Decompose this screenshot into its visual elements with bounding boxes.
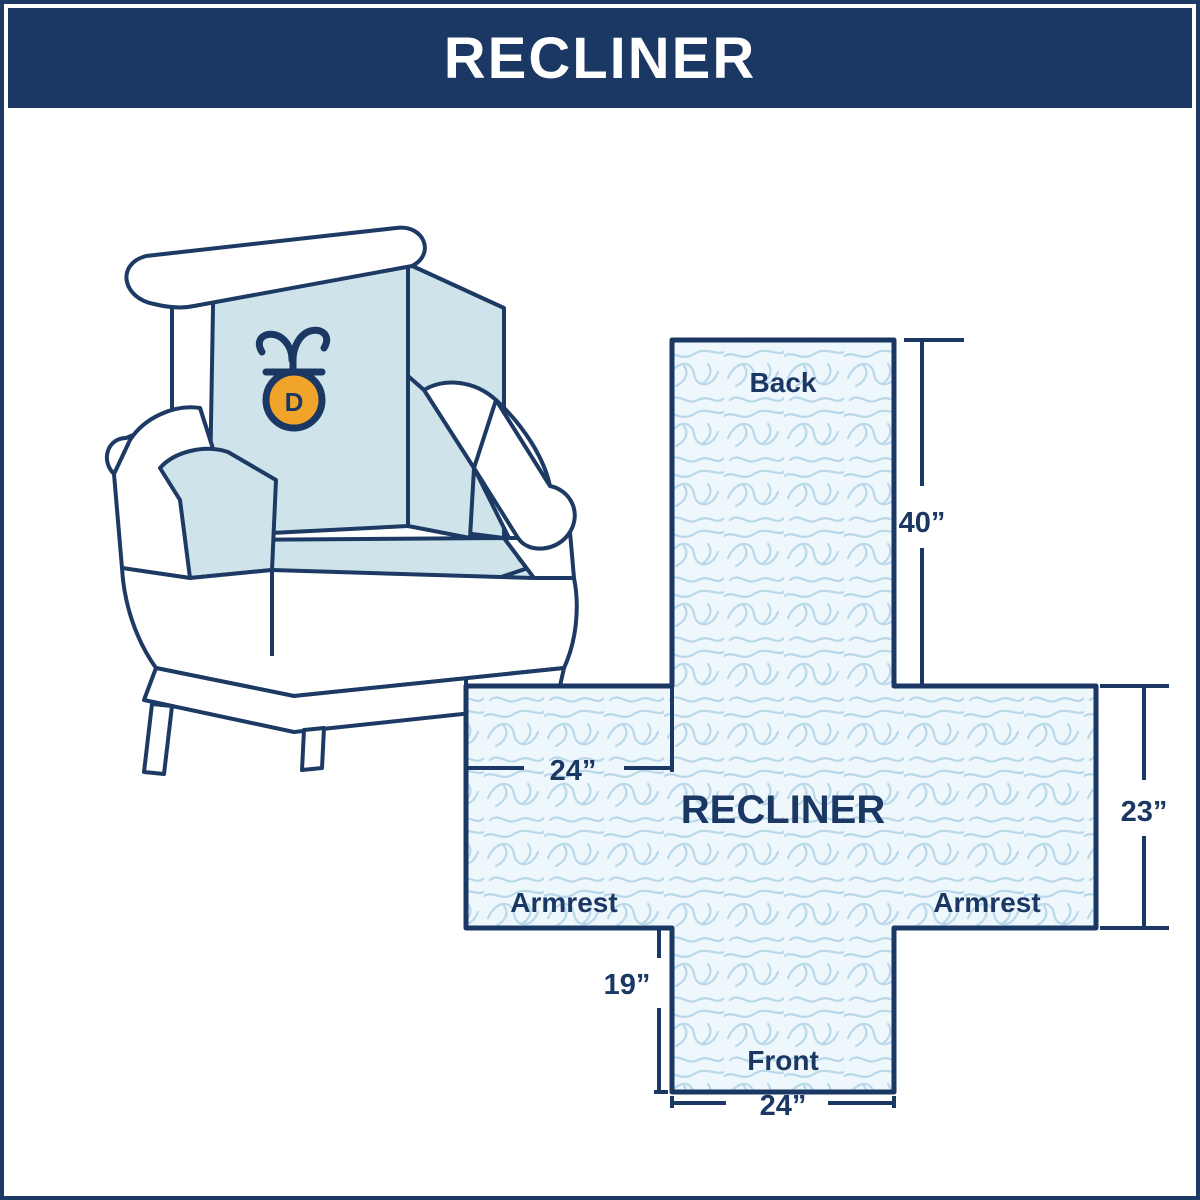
recliner-cover-diagram xyxy=(466,340,1096,1092)
logo-letter: D xyxy=(285,387,304,417)
label-back: Back xyxy=(750,367,817,398)
dim-back-height: 40” xyxy=(899,507,946,539)
header-bar: RECLINER xyxy=(8,8,1192,108)
label-front: Front xyxy=(747,1045,819,1076)
dim-front-width: 24” xyxy=(760,1090,807,1122)
poster-frame: RECLINER xyxy=(0,0,1200,1200)
label-armrest-left: Armrest xyxy=(510,887,617,918)
diagram-canvas: D xyxy=(4,108,1196,1196)
label-armrest-right: Armrest xyxy=(933,887,1040,918)
label-center-recliner: RECLINER xyxy=(681,788,886,832)
dim-back-width: 24” xyxy=(550,755,597,787)
dim-front-height: 19” xyxy=(604,969,651,1001)
page-title: RECLINER xyxy=(444,25,756,92)
dim-center-height: 23” xyxy=(1121,796,1168,828)
